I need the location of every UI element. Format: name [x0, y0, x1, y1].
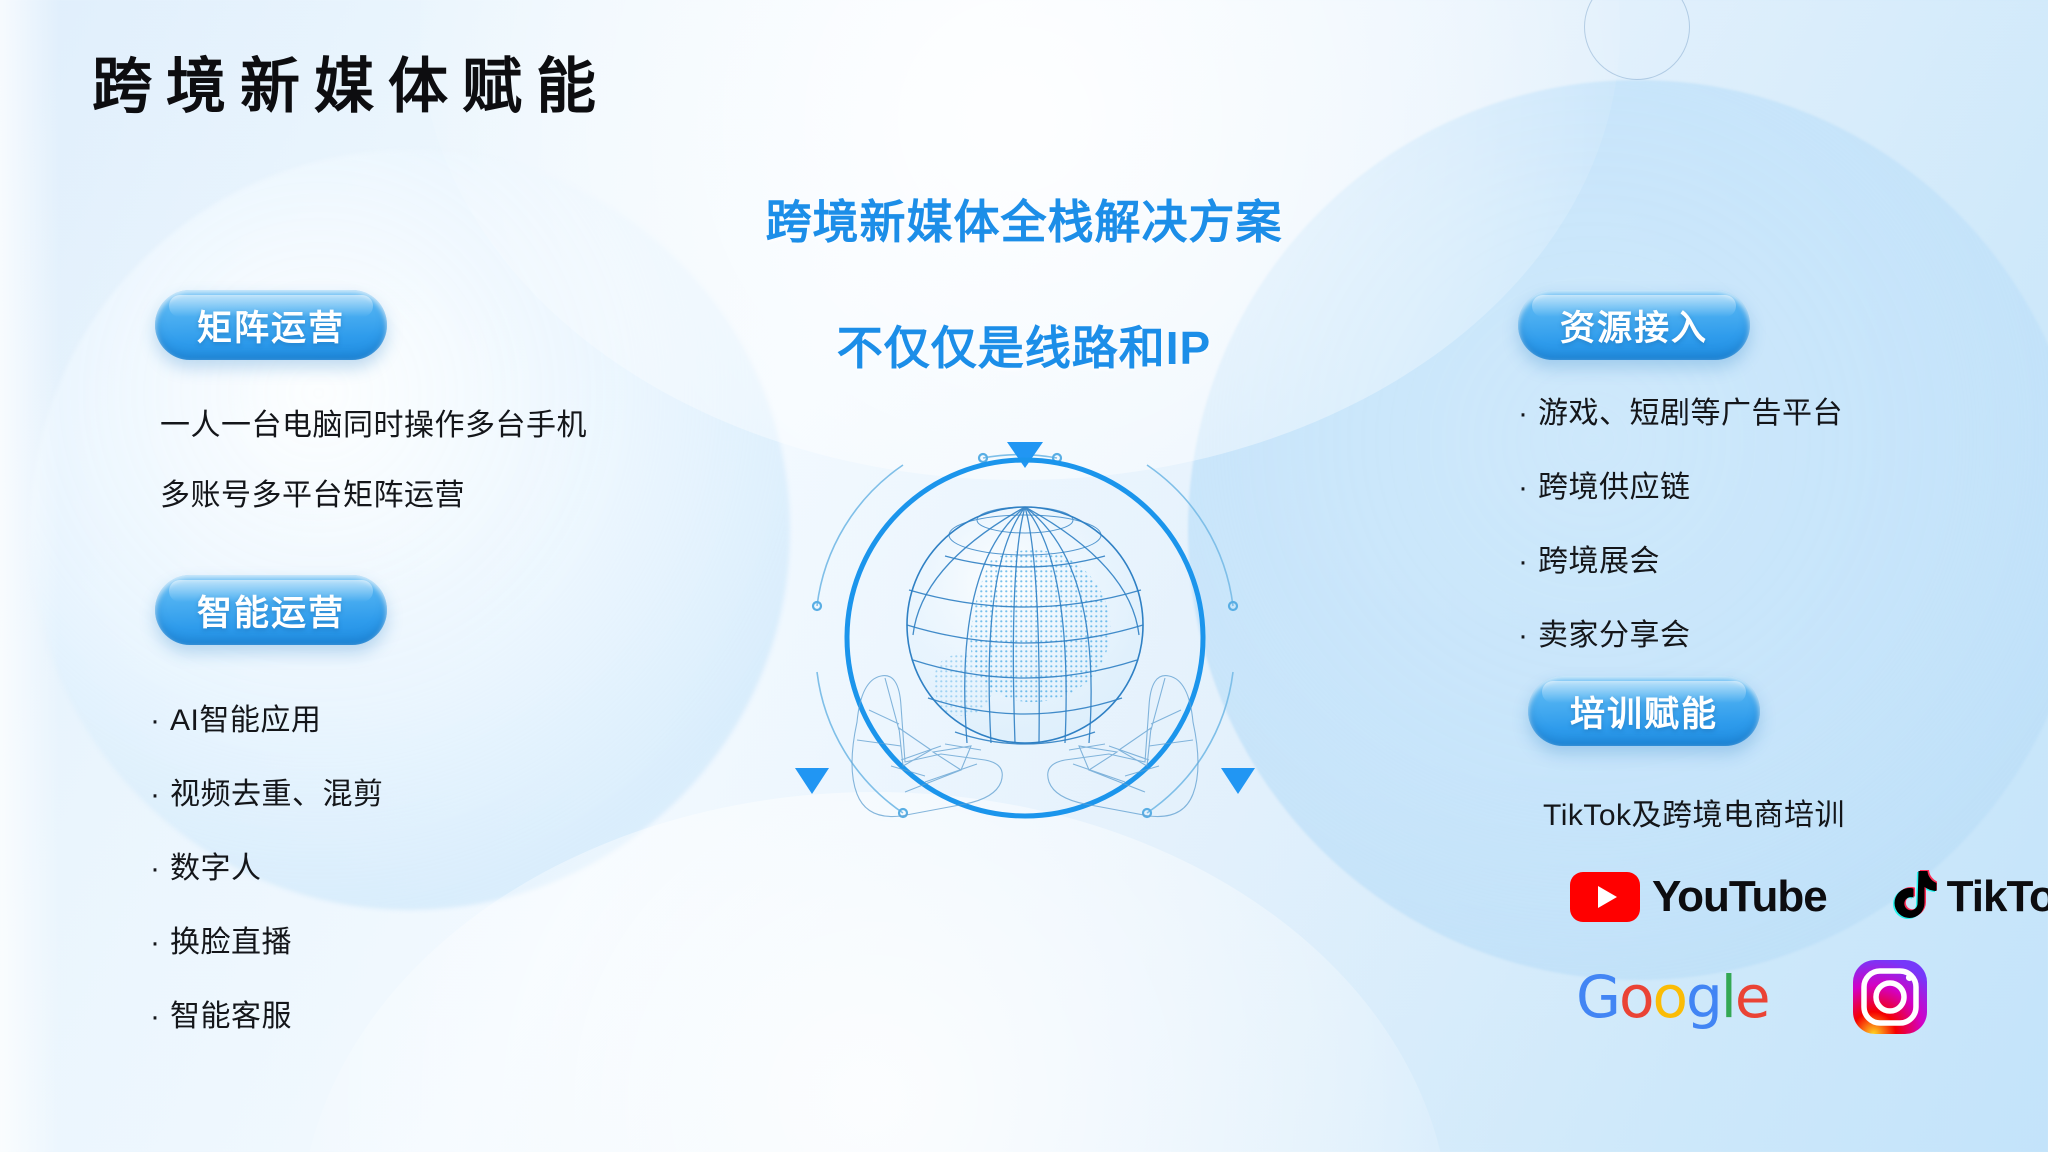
globe-in-hands-illustration [795, 410, 1255, 870]
list-item: · 跨境供应链 [1518, 462, 1843, 506]
list-item-label: 智能客服 [170, 991, 292, 1035]
list-item: · 视频去重、混剪 [150, 769, 384, 813]
list-item: · 数字人 [150, 843, 384, 887]
logo-row-top: YouTube TikTok [1570, 868, 2048, 925]
center-heading-primary: 跨境新媒体全栈解决方案 [766, 186, 1283, 252]
list-item-label: 卖家分享会 [1538, 610, 1691, 654]
google-letter-l: l [1721, 963, 1735, 1031]
list-item: · 换脸直播 [150, 917, 384, 961]
google-letter-g2: g [1686, 963, 1721, 1031]
instagram-logo[interactable] [1851, 958, 1929, 1036]
background-edge-highlight [0, 0, 60, 1152]
google-letter-e: e [1735, 963, 1769, 1031]
bullet-icon: · [150, 778, 170, 812]
left-bullet-list: · AI智能应用 · 视频去重、混剪 · 数字人 · 换脸直播 · 智能客服 [150, 695, 384, 1065]
bullet-icon: · [1518, 471, 1538, 505]
list-item-label: 跨境供应链 [1538, 462, 1691, 506]
list-item-label: 换脸直播 [170, 917, 292, 961]
tiktok-label: TikTok [1947, 872, 2048, 922]
bullet-icon: · [150, 704, 170, 738]
list-item-label: 视频去重、混剪 [170, 769, 384, 813]
bullet-icon: · [1518, 619, 1538, 653]
center-heading-secondary: 不仅仅是线路和IP [837, 312, 1211, 378]
list-item: · AI智能应用 [150, 695, 384, 739]
bullet-icon: · [150, 852, 170, 886]
list-item: · 游戏、短剧等广告平台 [1518, 388, 1843, 432]
bullet-icon: · [1518, 397, 1538, 431]
youtube-logo[interactable]: YouTube [1570, 872, 1827, 922]
pill-smart-operations[interactable]: 智能运营 [155, 575, 387, 645]
page-title: 跨境新媒体赋能 [92, 38, 610, 125]
youtube-play-icon [1570, 872, 1640, 922]
google-logo[interactable]: Google [1576, 963, 1769, 1031]
bullet-icon: · [150, 926, 170, 960]
list-item: · 智能客服 [150, 991, 384, 1035]
pill-training-empowerment[interactable]: 培训赋能 [1528, 676, 1760, 746]
right-text-line-training: TikTok及跨境电商培训 [1543, 790, 1845, 834]
list-item: · 卖家分享会 [1518, 610, 1843, 654]
bullet-icon: · [1518, 545, 1538, 579]
tiktok-note-icon [1891, 868, 1937, 925]
list-item: · 跨境展会 [1518, 536, 1843, 580]
list-item-label: 数字人 [170, 843, 262, 887]
right-bullet-list: · 游戏、短剧等广告平台 · 跨境供应链 · 跨境展会 · 卖家分享会 [1518, 388, 1843, 684]
logo-row-bottom: Google [1576, 958, 1929, 1036]
left-text-line-2: 多账号多平台矩阵运营 [160, 470, 465, 514]
list-item-label: 跨境展会 [1538, 536, 1660, 580]
bullet-icon: · [150, 1000, 170, 1034]
pill-matrix-operations[interactable]: 矩阵运营 [155, 290, 387, 360]
list-item-label: 游戏、短剧等广告平台 [1538, 388, 1843, 432]
youtube-label: YouTube [1652, 872, 1827, 922]
google-letter-o1: o [1619, 963, 1653, 1031]
google-letter-o2: o [1652, 963, 1686, 1031]
pill-resource-access[interactable]: 资源接入 [1518, 290, 1750, 360]
tiktok-logo[interactable]: TikTok [1891, 868, 2048, 925]
google-letter-g1: G [1576, 963, 1619, 1031]
left-text-line-1: 一人一台电脑同时操作多台手机 [160, 400, 587, 444]
list-item-label: AI智能应用 [170, 695, 321, 739]
